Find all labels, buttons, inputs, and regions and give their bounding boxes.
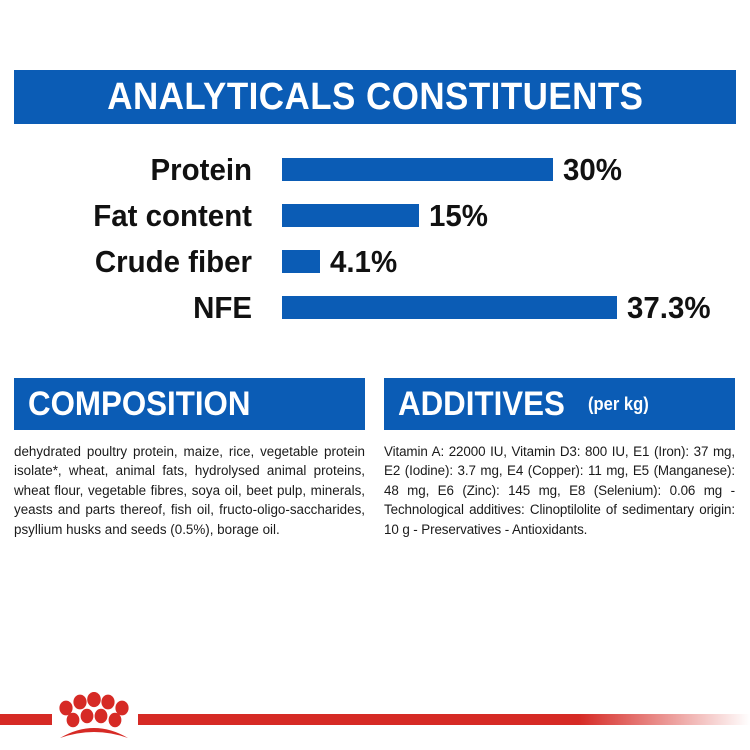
additives-text: Vitamin A: 22000 IU, Vitamin D3: 800 IU,… [384, 442, 735, 539]
info-sections: COMPOSITION dehydrated poultry protein, … [14, 378, 736, 539]
composition-text: dehydrated poultry protein, maize, rice,… [14, 442, 365, 539]
additives-section: ADDITIVES (per kg) Vitamin A: 22000 IU, … [384, 378, 735, 539]
chart-value-label: 30% [563, 154, 622, 185]
additives-header-unit: (per kg) [588, 394, 649, 415]
chart-category-label: Protein [13, 154, 252, 185]
chart-bar-group: 4.1% [282, 246, 401, 277]
chart-row: Fat content 15% [0, 192, 750, 238]
chart-bar-group: 30% [282, 154, 625, 185]
composition-header: COMPOSITION [14, 378, 365, 430]
analytical-constituents-chart: Protein 30% Fat content 15% Crude fiber … [0, 146, 750, 330]
chart-value-label: 4.1% [330, 246, 397, 277]
chart-bar [282, 204, 419, 227]
composition-header-title: COMPOSITION [28, 385, 250, 424]
analytical-constituents-banner: ANALYTICALS CONSTITUENTS [14, 70, 736, 124]
footer-rule-left [0, 714, 52, 725]
chart-category-label: NFE [13, 292, 252, 323]
chart-bar [282, 250, 320, 273]
chart-bar [282, 296, 617, 319]
chart-bar-group: 37.3% [282, 292, 715, 323]
footer-rule-right [138, 714, 750, 725]
chart-category-label: Crude fiber [13, 246, 252, 277]
chart-category-label: Fat content [13, 200, 252, 231]
footer [0, 688, 750, 750]
additives-header-title: ADDITIVES [398, 385, 565, 424]
chart-bar [282, 158, 553, 181]
chart-bar-group: 15% [282, 200, 491, 231]
chart-row: Protein 30% [0, 146, 750, 192]
additives-header: ADDITIVES (per kg) [384, 378, 735, 430]
page-title: ANALYTICALS CONSTITUENTS [107, 76, 643, 119]
royal-canin-crown-icon [52, 692, 136, 744]
chart-value-label: 37.3% [627, 292, 711, 323]
chart-row: NFE 37.3% [0, 284, 750, 330]
chart-value-label: 15% [429, 200, 488, 231]
composition-section: COMPOSITION dehydrated poultry protein, … [14, 378, 365, 539]
chart-row: Crude fiber 4.1% [0, 238, 750, 284]
